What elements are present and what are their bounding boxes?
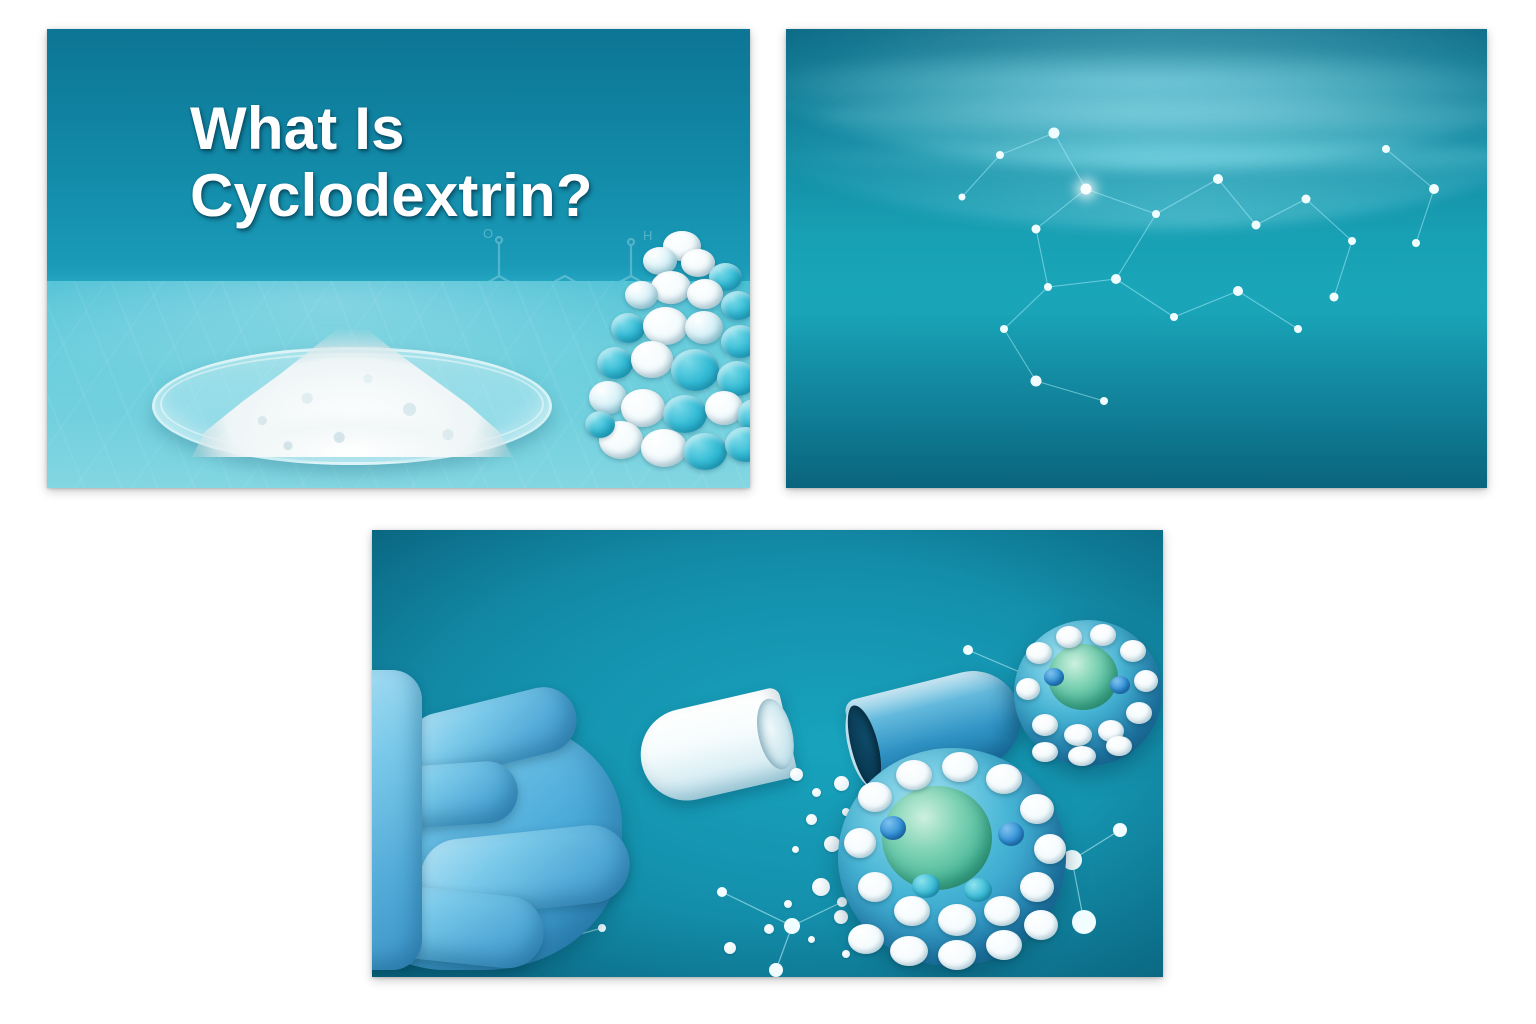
svg-text:O: O [483, 226, 493, 241]
cyclodextrin-ball-large [838, 748, 1066, 966]
panel-enhancing-solubility[interactable]: ENHANCING SOLUBILITY & BIOAVAILABILITY [372, 530, 1163, 977]
desk-surface-glow [786, 295, 1487, 488]
gloved-hand [372, 660, 702, 977]
panel-what-is-cyclodextrin[interactable]: OHOH [47, 29, 750, 488]
glove-cuff [372, 670, 422, 970]
panel-advanced-drug-delivery[interactable]: ADVANCED DRUG DELIVERY IN 2026 [786, 29, 1487, 488]
pill-pyramid [585, 229, 750, 488]
infographic-canvas: OHOH [0, 0, 1536, 1024]
panel-title-what-is: What Is Cyclodextrin? [190, 95, 593, 229]
petri-dish [152, 317, 552, 467]
cyclodextrin-ball-small [1014, 620, 1162, 766]
